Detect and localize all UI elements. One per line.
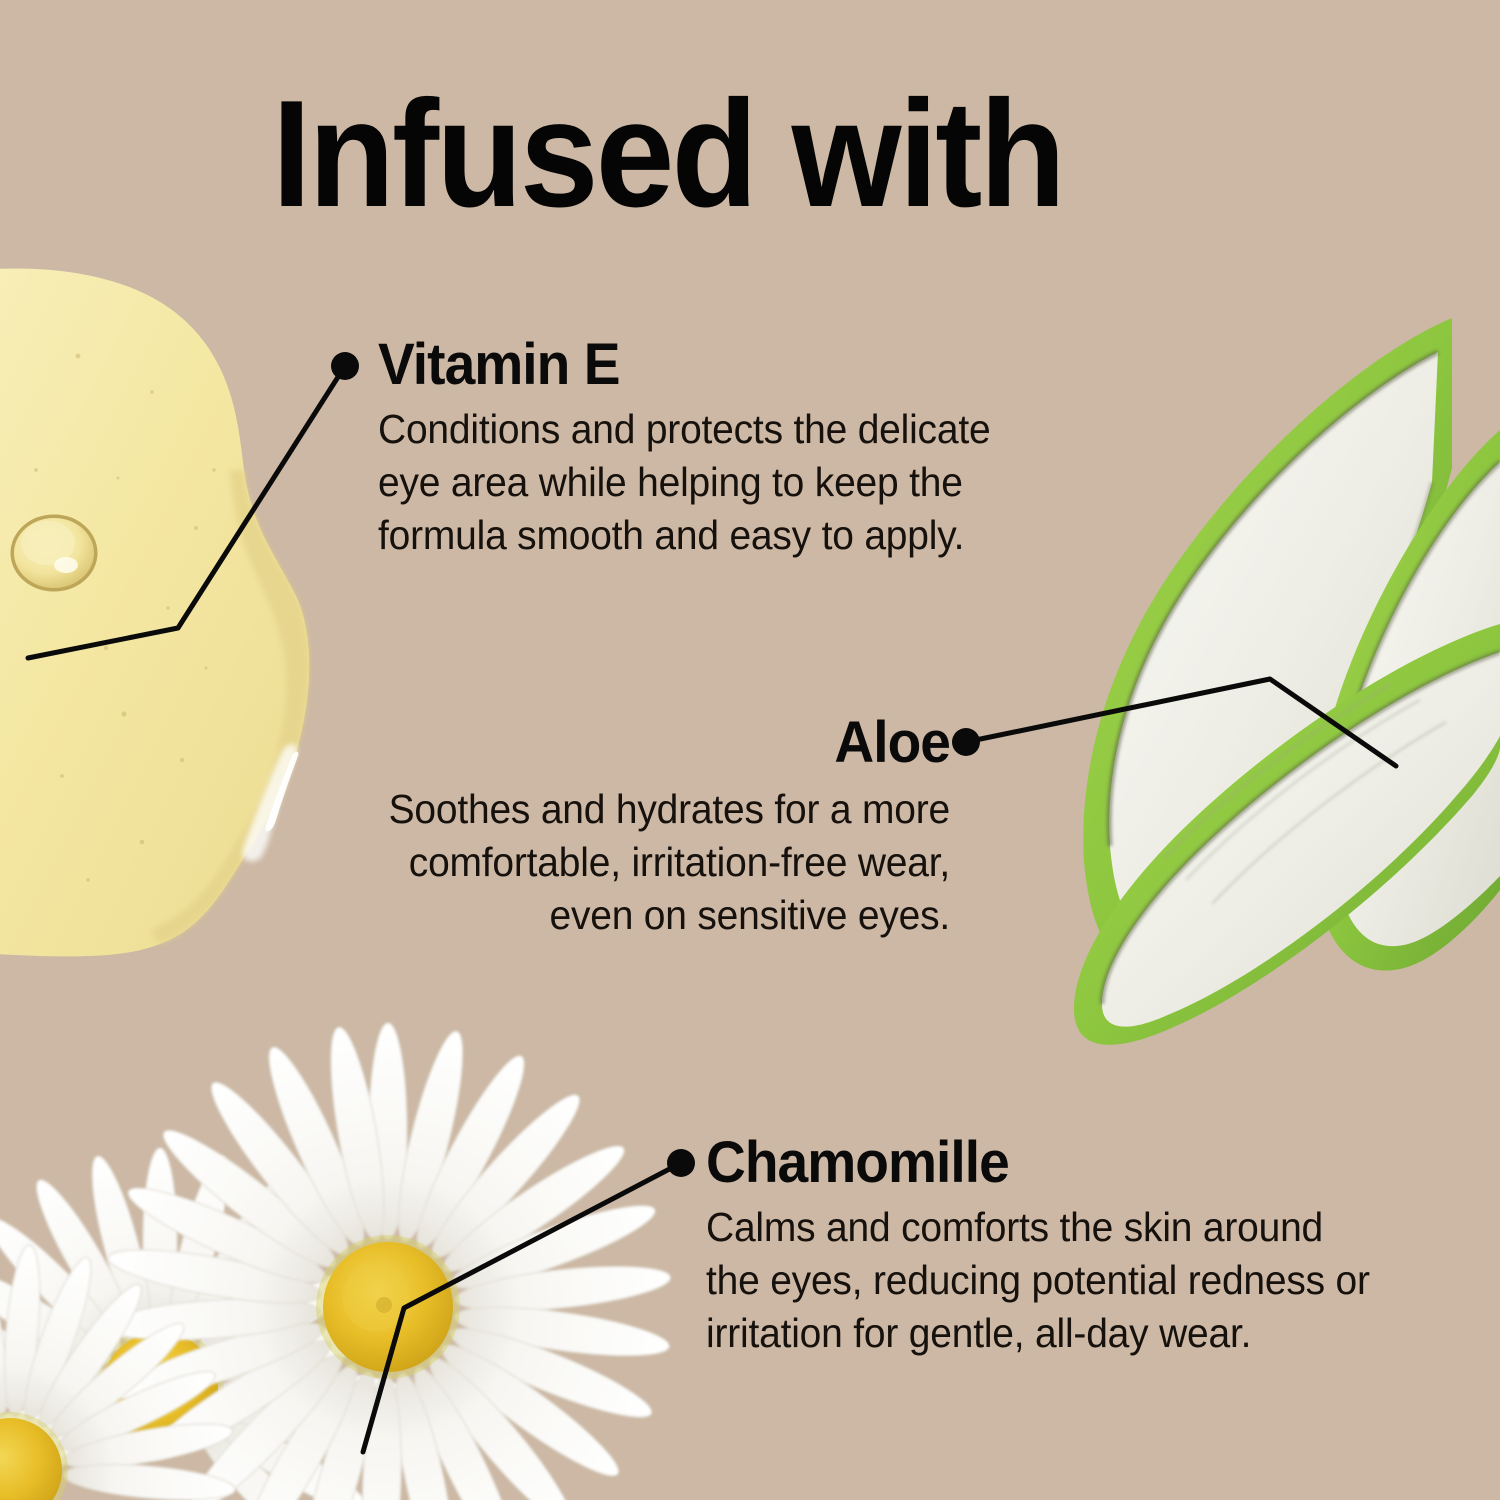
ingredient-block-vitamin-e: Vitamin E Conditions and protects the de… bbox=[378, 334, 1068, 562]
ingredient-description-vitamin-e: Conditions and protects the delicate eye… bbox=[378, 403, 1034, 562]
ingredient-heading-vitamin-e: Vitamin E bbox=[378, 334, 1034, 397]
ingredient-description-chamomille: Calms and comforts the skin around the e… bbox=[706, 1201, 1371, 1360]
leader-line-aloe bbox=[966, 679, 1396, 766]
ingredient-block-chamomille: Chamomille Calms and comforts the skin a… bbox=[706, 1132, 1406, 1360]
leader-line-vitamin-e bbox=[28, 366, 345, 658]
ingredient-description-aloe: Soothes and hydrates for a more comforta… bbox=[333, 783, 951, 942]
ingredient-heading-aloe: Aloe bbox=[333, 712, 951, 775]
ingredient-block-aloe: Aloe Soothes and hydrates for a more com… bbox=[300, 712, 950, 942]
ingredient-heading-chamomille: Chamomille bbox=[706, 1132, 1371, 1195]
leader-dot-vitamin-e bbox=[331, 352, 359, 380]
leader-dot-chamomille bbox=[667, 1149, 695, 1177]
page-title: Infused with bbox=[272, 78, 1063, 230]
infographic-canvas: Infused with Vitamin E Conditions and pr… bbox=[0, 0, 1500, 1500]
leader-line-chamomille bbox=[363, 1163, 681, 1452]
leader-dot-aloe bbox=[952, 728, 980, 756]
